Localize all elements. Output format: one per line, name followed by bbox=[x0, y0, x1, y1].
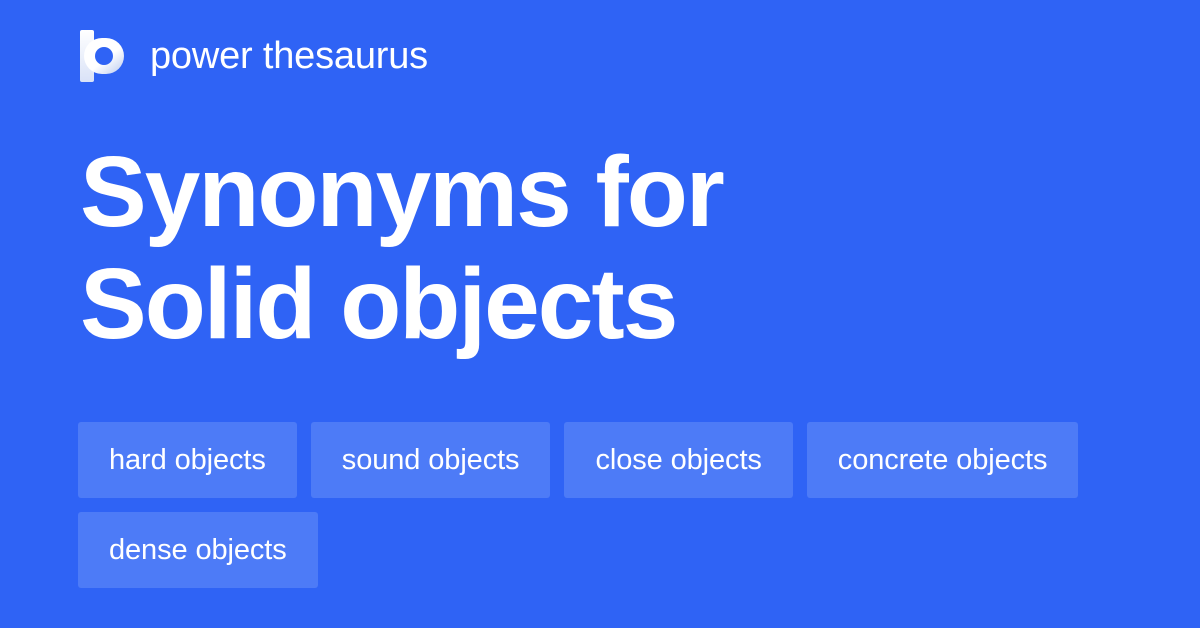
power-thesaurus-b-logo-icon bbox=[80, 30, 128, 82]
page-title: Synonyms for Solid objects bbox=[80, 136, 920, 360]
share-card: power thesaurus Synonyms for Solid objec… bbox=[0, 0, 1200, 628]
synonym-chip[interactable]: concrete objects bbox=[807, 422, 1079, 498]
synonym-chip[interactable]: dense objects bbox=[78, 512, 318, 588]
brand-name: power thesaurus bbox=[150, 37, 428, 75]
synonym-chip[interactable]: sound objects bbox=[311, 422, 551, 498]
synonym-chip[interactable]: close objects bbox=[564, 422, 792, 498]
synonym-chip-list: hard objects sound objects close objects… bbox=[78, 422, 1128, 588]
synonym-chip[interactable]: hard objects bbox=[78, 422, 297, 498]
brand-logo[interactable]: power thesaurus bbox=[80, 28, 428, 84]
